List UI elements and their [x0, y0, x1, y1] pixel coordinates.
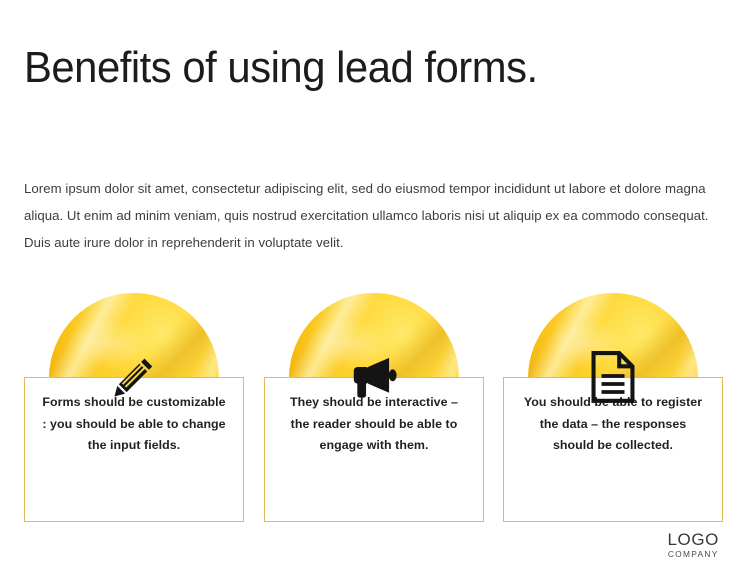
page-title: Benefits of using lead forms.	[24, 44, 538, 92]
document-icon	[586, 350, 640, 404]
benefit-card-2[interactable]: They should be interactive – the reader …	[264, 290, 484, 528]
logo-primary-text: LOGO	[667, 531, 719, 548]
body-paragraph: Lorem ipsum dolor sit amet, consectetur …	[24, 175, 710, 256]
card-text-3: You should be able to register the data …	[518, 392, 708, 521]
logo: LOGO COMPANY	[667, 531, 719, 558]
card-text-2: They should be interactive – the reader …	[279, 392, 469, 521]
benefit-card-1[interactable]: Forms should be customizable : you shoul…	[24, 290, 244, 528]
logo-secondary-text: COMPANY	[667, 550, 719, 558]
megaphone-icon	[347, 350, 401, 404]
pencil-icon	[107, 350, 161, 404]
benefit-card-3[interactable]: You should be able to register the data …	[503, 290, 723, 528]
benefit-cards-row: Forms should be customizable : you shoul…	[0, 290, 743, 530]
card-text-1: Forms should be customizable : you shoul…	[39, 392, 229, 521]
slide-canvas: Benefits of using lead forms. Lorem ipsu…	[0, 0, 743, 575]
